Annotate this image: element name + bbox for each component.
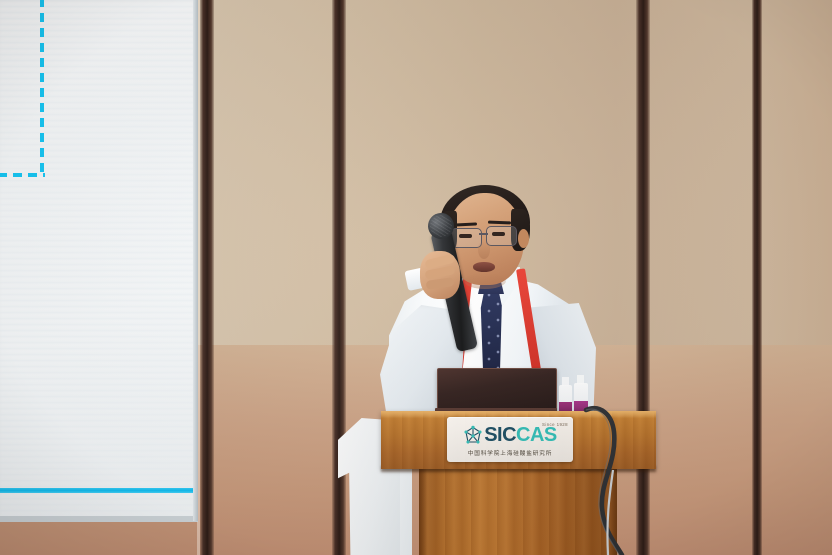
photo-scene: SICCAS Since 1928 中国科学院上海硅酸盐研究所 [0, 0, 832, 555]
photo-grade-overlay [0, 0, 832, 555]
